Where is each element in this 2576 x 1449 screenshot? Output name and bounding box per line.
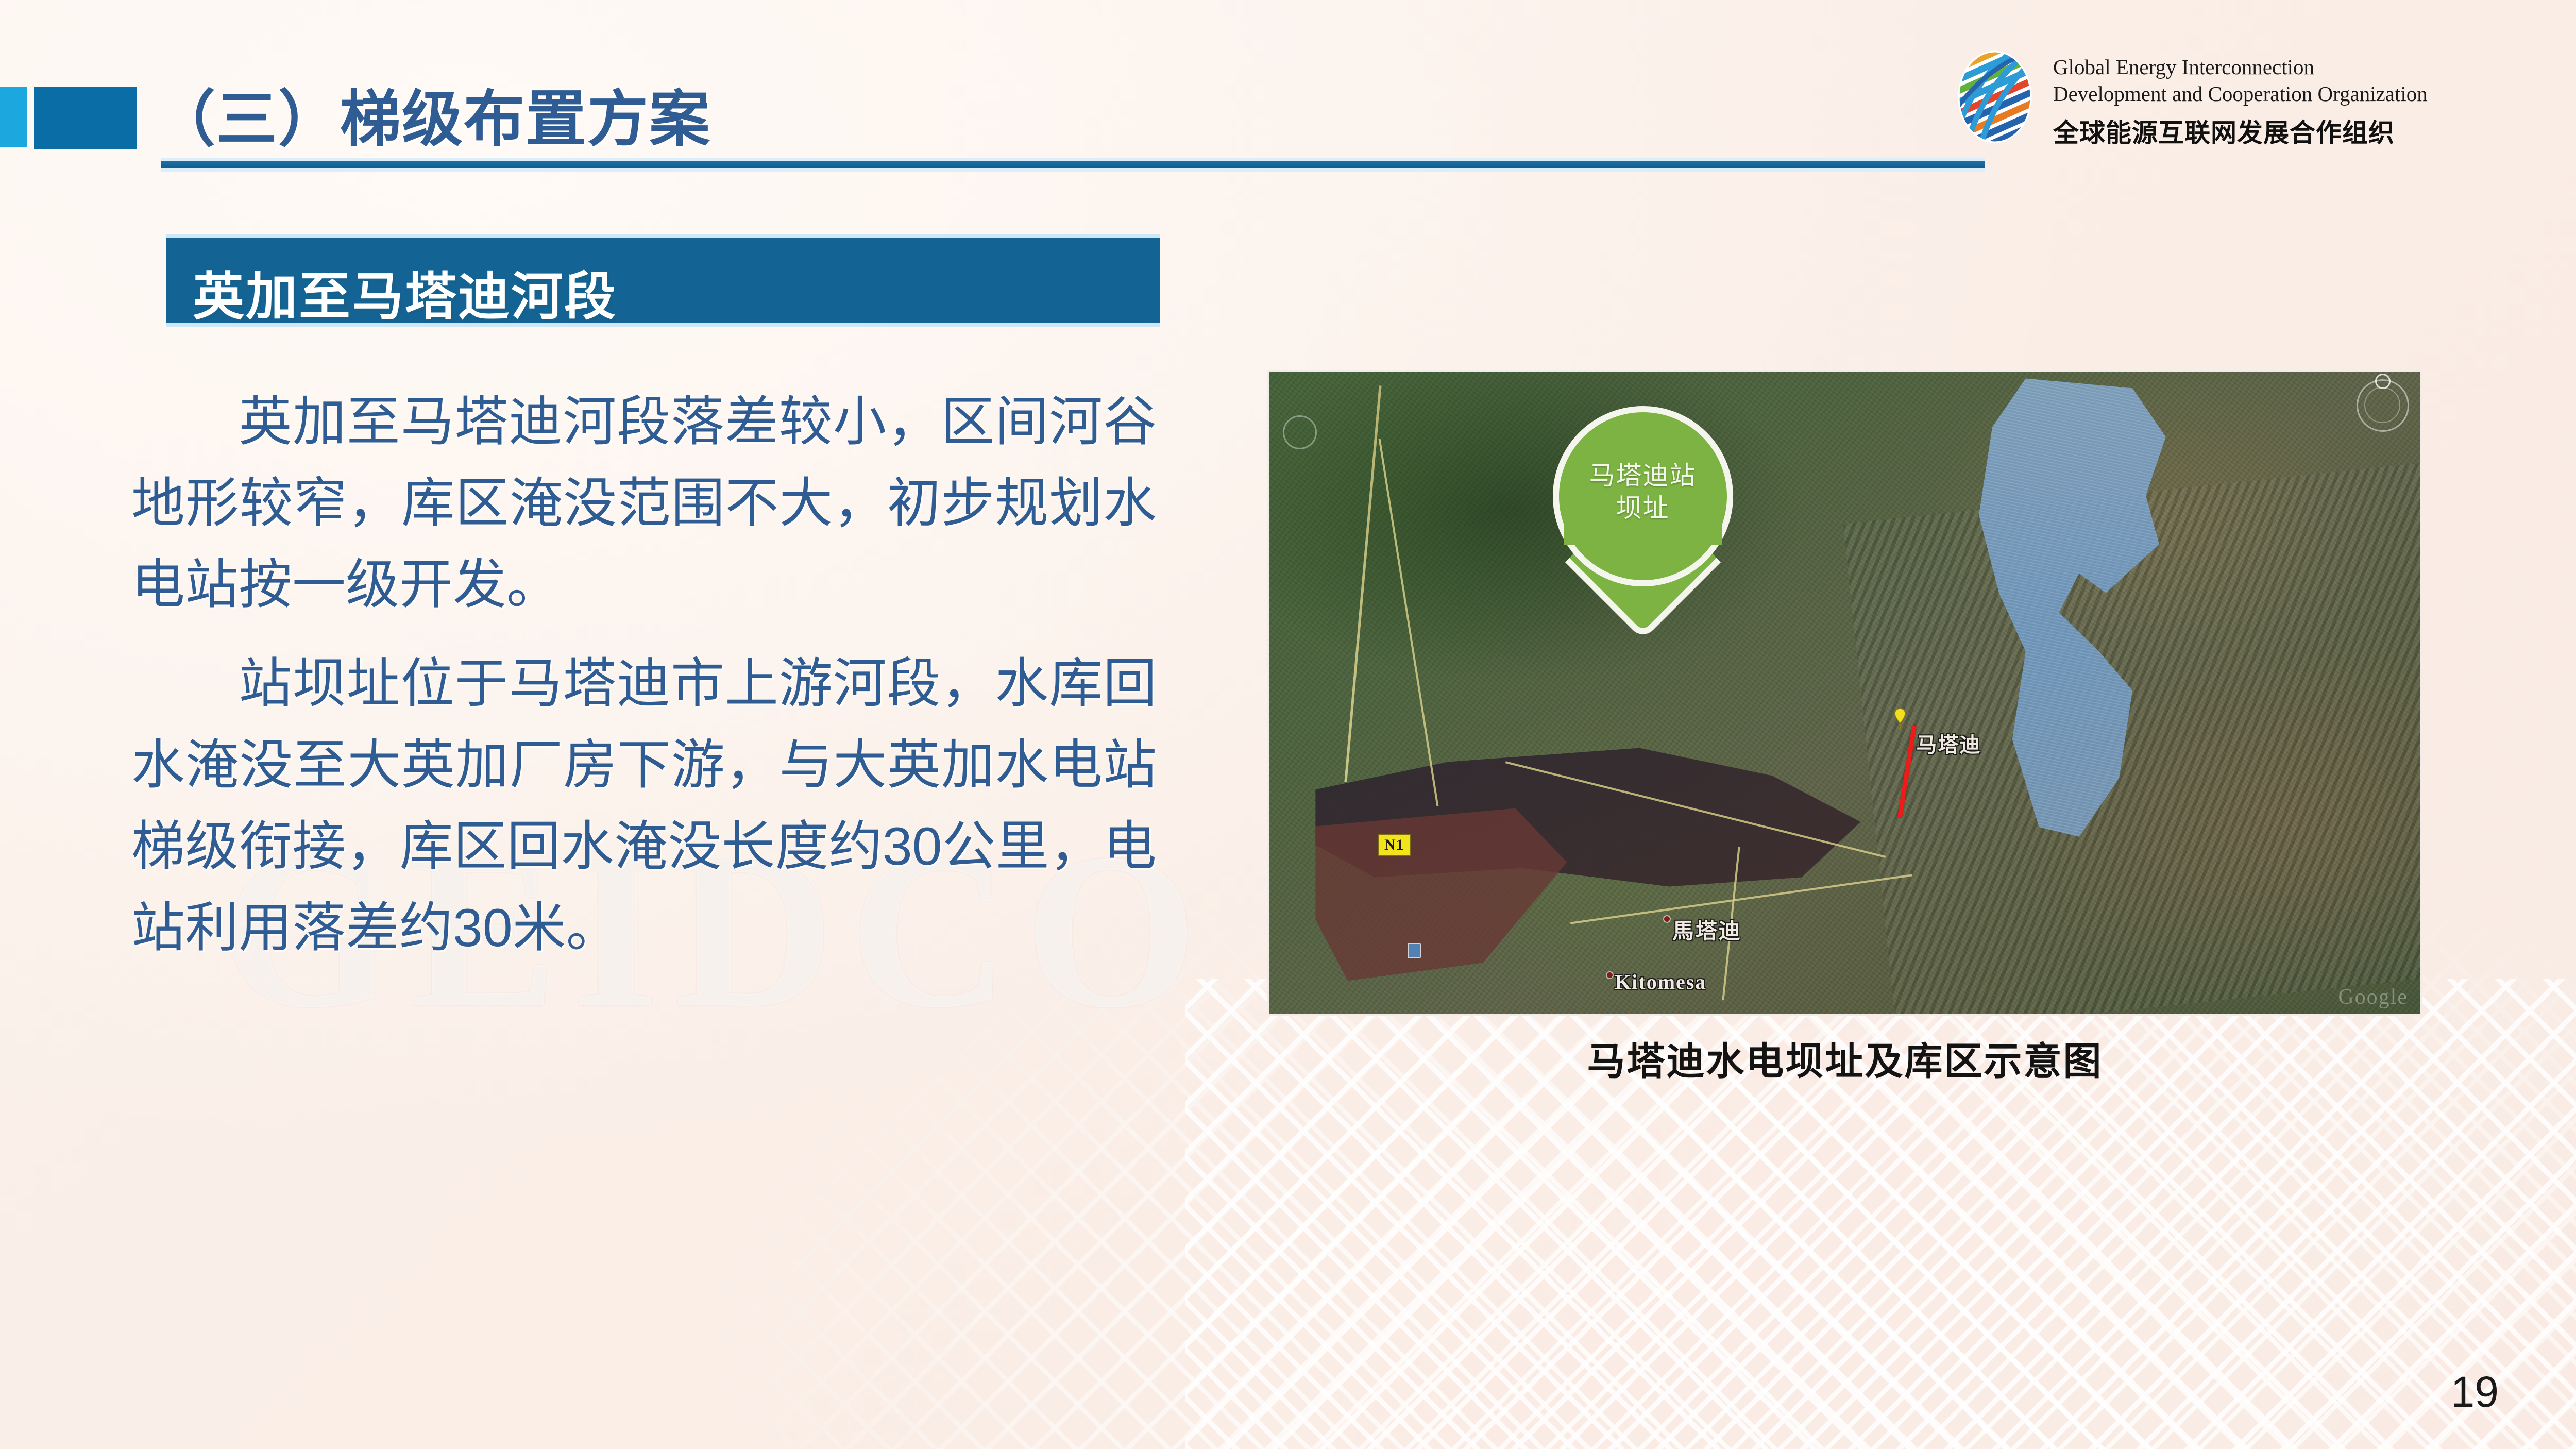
logo-en-line-2: Development and Cooperation Organization (2053, 80, 2543, 107)
page-title: （三）梯级布置方案 (155, 70, 711, 158)
paragraph-2: 站坝址位于马塔迪市上游河段，水库回水淹没至大英加厂房下游，与大英加水电站梯级衔接… (131, 643, 1157, 969)
satellite-map-image: 马塔迪站 坝址 马塔迪 馬塔迪 Kitomesa N1 Google Googl… (1269, 372, 2420, 1014)
geidco-logo: Global Energy Interconnection Developmen… (1947, 49, 2545, 147)
map-label-matadi-simplified: 马塔迪 (1917, 728, 1981, 758)
globe-logo-icon (1947, 49, 2043, 145)
map-compass-secondary-ring (1283, 415, 1317, 449)
paragraph-1: 英加至马塔迪河段落差较小，区间河谷地形较窄，库区淹没范围不大，初步规划水电站按一… (131, 381, 1157, 626)
map-label-matadi-traditional: 馬塔迪 (1672, 914, 1742, 945)
map-compass-north-indicator (2375, 374, 2391, 389)
map-pin-label-line-1: 马塔迪站 (1589, 461, 1697, 490)
map-compass-inner-ring (2364, 387, 2400, 423)
body-text-block: 英加至马塔迪河段落差较小，区间河谷地形较窄，库区淹没范围不大，初步规划水电站按一… (131, 381, 1157, 987)
yellow-pushpin-icon (1893, 708, 1907, 731)
google-earth-watermark: Google (2338, 985, 2408, 1009)
header-accent-square-dark (34, 87, 137, 149)
section-banner-label: 英加至马塔迪河段 (193, 255, 617, 329)
section-banner: 英加至马塔迪河段 (166, 238, 1160, 323)
logo-en-line-1: Global Energy Interconnection (2053, 54, 2543, 80)
logo-cn-name: 全球能源互联网发展合作组织 (2053, 112, 2543, 149)
dam-site-map-pin: 马塔迪站 坝址 (1553, 406, 1733, 622)
map-label-kitomesa: Kitomesa (1615, 970, 1706, 994)
map-compass-icon (2357, 379, 2409, 432)
map-pin-label: 马塔迪站 坝址 (1553, 460, 1733, 525)
map-road-shield-n1: N1 (1378, 834, 1411, 856)
page-number: 19 (2451, 1367, 2499, 1417)
map-town-dot (1607, 972, 1613, 978)
map-pin-label-line-2: 坝址 (1616, 494, 1670, 523)
header-divider-rule (161, 161, 1985, 168)
map-poi-icon (1408, 943, 1421, 958)
figure-container: 马塔迪站 坝址 马塔迪 馬塔迪 Kitomesa N1 Google Googl… (1269, 372, 2420, 1014)
header-accent-square-light (0, 87, 27, 147)
map-city-dot (1664, 916, 1670, 922)
logo-text-block: Global Energy Interconnection Developmen… (2053, 54, 2543, 149)
figure-caption: 马塔迪水电坝址及库区示意图 (1269, 1031, 2420, 1086)
slide-canvas: GEIDCO （三）梯级布置方案 (0, 0, 2576, 1449)
